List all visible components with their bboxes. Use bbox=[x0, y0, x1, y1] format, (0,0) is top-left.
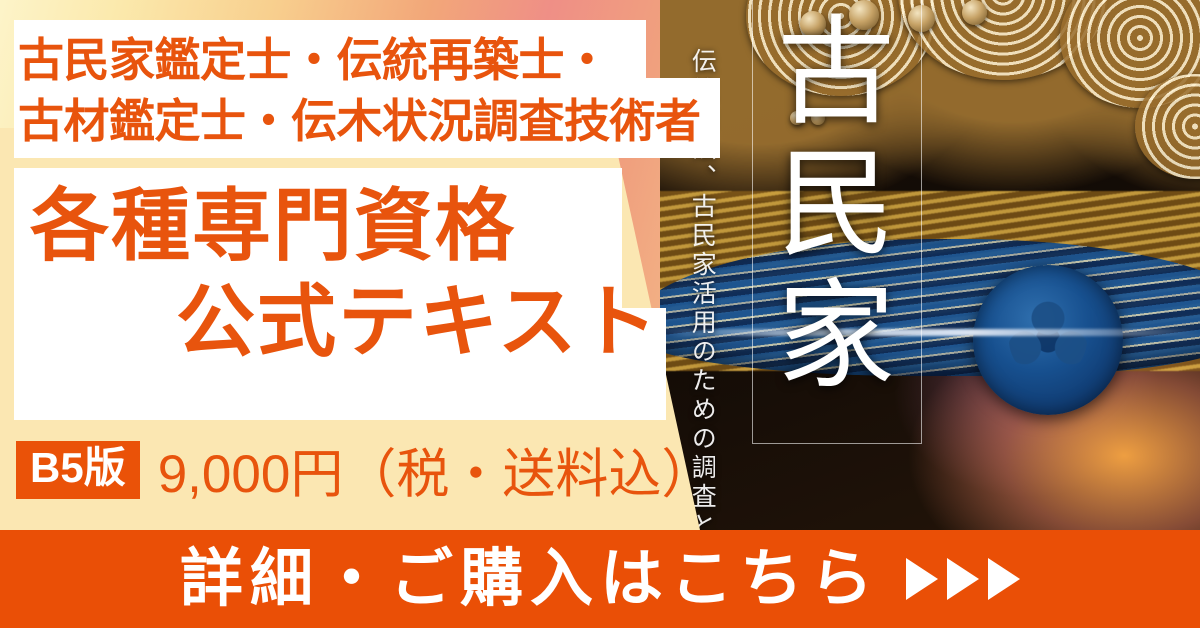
triangle-right-icon bbox=[947, 558, 979, 600]
qualifications-line-1: 古民家鑑定士・伝統再築士・ bbox=[18, 30, 718, 91]
cta-label: 詳細・ご購入はこちら bbox=[180, 548, 880, 611]
promo-banner: 古 民 家 伝統構法、古民家活用のための調査と再生の 古民家鑑定士・伝統再築士・… bbox=[0, 0, 1200, 628]
cover-title-char-3: 家 bbox=[756, 272, 918, 404]
family-crest-icon bbox=[973, 265, 1123, 415]
triangle-right-icon bbox=[906, 558, 938, 600]
cover-title-char-2: 民 bbox=[756, 140, 918, 272]
cta-bar[interactable]: 詳細・ご購入はこちら bbox=[0, 530, 1200, 628]
triangle-right-icon bbox=[988, 558, 1020, 600]
cover-title-char-1: 古 bbox=[756, 8, 918, 140]
cta-arrows bbox=[906, 558, 1020, 600]
headline-line-2: 公式テキスト bbox=[16, 274, 666, 370]
headline-line-1: 各種専門資格 bbox=[16, 178, 666, 274]
light-sheen bbox=[660, 329, 1200, 336]
main-headline: 各種専門資格 公式テキスト bbox=[16, 178, 666, 371]
qualifications-line-2: 古材鑑定士・伝木状況調査技術者 bbox=[18, 91, 718, 152]
price-row: B5版 9,000円（税・送料込） bbox=[16, 432, 714, 508]
price-text: 9,000円（税・送料込） bbox=[158, 432, 715, 508]
cover-title: 古 民 家 bbox=[756, 8, 918, 404]
qualifications-text: 古民家鑑定士・伝統再築士・ 古材鑑定士・伝木状況調査技術者 bbox=[18, 30, 718, 151]
book-cover-image: 古 民 家 伝統構法、古民家活用のための調査と再生の bbox=[660, 0, 1200, 530]
format-badge: B5版 bbox=[16, 441, 140, 499]
